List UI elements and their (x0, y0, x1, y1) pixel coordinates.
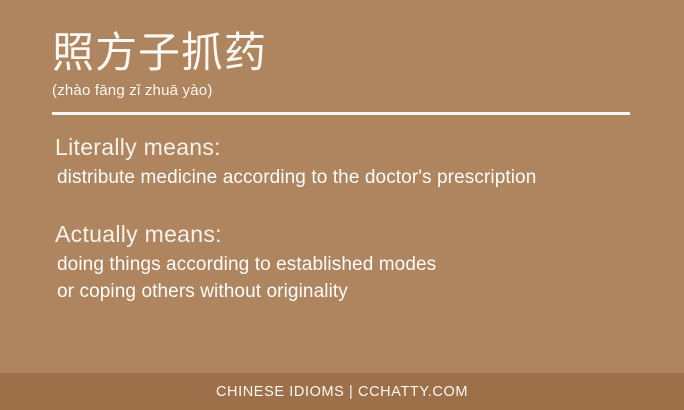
idiom-title: 照方子抓药 (52, 28, 632, 78)
actual-meaning-line: or coping others without originality (57, 278, 655, 305)
literal-meaning-heading: Literally means: (55, 132, 655, 162)
card-header: 照方子抓药 (zhào fāng zǐ zhuā yào) (52, 28, 632, 101)
actual-meaning-heading: Actually means: (55, 219, 655, 249)
literal-meaning-section: Literally means: distribute medicine acc… (55, 132, 655, 191)
actual-meaning-section: Actually means: doing things according t… (55, 219, 655, 305)
idiom-card: 照方子抓药 (zhào fāng zǐ zhuā yào) Literally … (0, 0, 684, 410)
footer-bar: CHINESE IDIOMS | CCHATTY.COM (0, 373, 684, 410)
footer-branding-text: CHINESE IDIOMS | CCHATTY.COM (216, 383, 468, 401)
idiom-pinyin: (zhào fāng zǐ zhuā yào) (52, 81, 632, 101)
literal-meaning-line: distribute medicine according to the doc… (57, 164, 655, 191)
actual-meaning-line: doing things according to established mo… (57, 251, 655, 278)
header-divider (52, 112, 630, 115)
